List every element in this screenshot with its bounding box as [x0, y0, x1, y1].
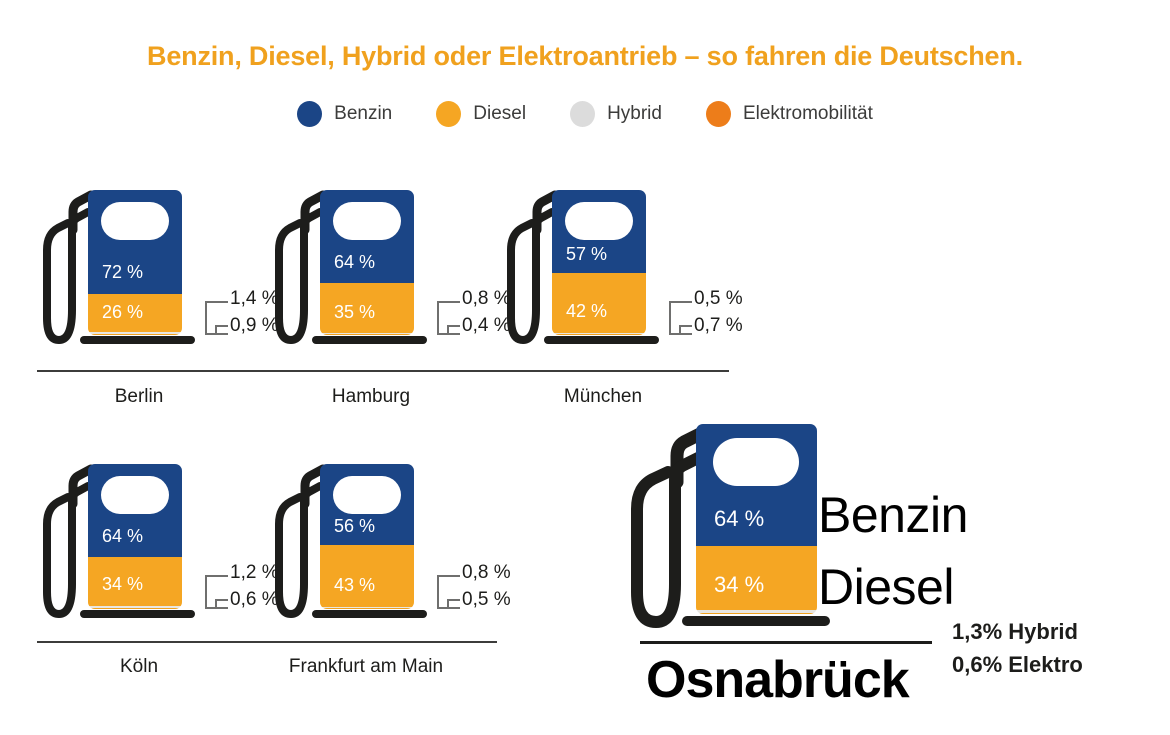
segment-benzin: 64 %	[88, 464, 182, 557]
segment-elektro	[88, 334, 182, 335]
segment-diesel: 43 %	[320, 545, 414, 607]
segment-benzin: 64 %	[320, 190, 414, 283]
pump-base	[312, 336, 427, 344]
pump-display-window	[565, 202, 633, 240]
hero-note-hybrid: 1,3% Hybrid	[952, 619, 1078, 645]
city-label-berlin: Berlin	[44, 386, 234, 408]
legend: Benzin Diesel Hybrid Elektromobilität	[0, 101, 1170, 127]
segment-elektro	[552, 334, 646, 335]
pump-display-window	[333, 202, 401, 240]
value-benzin: 57 %	[566, 244, 607, 265]
segment-elektro	[88, 608, 182, 609]
pump-group-frankfurt-am-main: 56 % 43 % 0,8 % 0,5 %	[276, 464, 496, 629]
pump-body-frankfurt-am-main: 56 % 43 %	[320, 464, 414, 609]
pump-display-window	[101, 476, 169, 514]
value-diesel: 26 %	[102, 302, 143, 323]
circle-icon	[706, 101, 731, 127]
pump-group-hamburg: 64 % 35 % 0,8 % 0,4 %	[276, 190, 496, 355]
callout-elektro: 0,6 %	[230, 589, 279, 611]
pump-base	[80, 336, 195, 344]
segment-elektro	[320, 608, 414, 609]
pump-body-koeln: 64 % 34 %	[88, 464, 182, 609]
pump-group-muenchen: 57 % 42 % 0,5 % 0,7 %	[508, 190, 728, 355]
hero-note-elektro: 0,6% Elektro	[952, 652, 1083, 678]
segment-diesel: 35 %	[320, 283, 414, 334]
infographic-canvas: Benzin, Diesel, Hybrid oder Elektroantri…	[0, 0, 1170, 735]
pump-group-osnabrueck: 64 % 34 % Benzin Diesel 1,3% Hybrid 0,6%…	[632, 424, 1152, 724]
segment-benzin: 57 %	[552, 190, 646, 273]
segment-elektro	[696, 613, 817, 614]
value-diesel: 43 %	[334, 575, 375, 596]
callout-hybrid: 0,8 %	[462, 288, 511, 310]
callout-hybrid: 0,8 %	[462, 562, 511, 584]
callout-hybrid: 1,2 %	[230, 562, 279, 584]
pump-base	[312, 610, 427, 618]
value-benzin: 56 %	[334, 516, 375, 537]
pump-group-koeln: 64 % 34 % 1,2 % 0,6 %	[44, 464, 264, 629]
city-label-frankfurt-am-main: Frankfurt am Main	[271, 656, 461, 678]
legend-item-diesel: Diesel	[436, 101, 526, 127]
value-diesel: 42 %	[566, 301, 607, 322]
legend-label-hybrid: Hybrid	[607, 103, 662, 125]
hero-divider	[640, 641, 932, 644]
legend-item-hybrid: Hybrid	[570, 101, 662, 127]
circle-icon	[570, 101, 595, 127]
pump-base	[682, 616, 830, 626]
city-label-hamburg: Hamburg	[276, 386, 466, 408]
segment-diesel: 42 %	[552, 273, 646, 334]
hero-label-benzin: Benzin	[818, 486, 968, 544]
pump-display-window	[333, 476, 401, 514]
legend-item-benzin: Benzin	[297, 101, 392, 127]
legend-item-elektromobilitaet: Elektromobilität	[706, 101, 873, 127]
legend-label-diesel: Diesel	[473, 103, 526, 125]
pump-body-muenchen: 57 % 42 %	[552, 190, 646, 335]
page-title: Benzin, Diesel, Hybrid oder Elektroantri…	[0, 41, 1170, 72]
pump-body-osnabrueck: 64 % 34 %	[696, 424, 817, 614]
value-benzin: 72 %	[102, 262, 143, 283]
city-label-muenchen: München	[508, 386, 698, 408]
city-label-koeln: Köln	[44, 656, 234, 678]
callout-elektro: 0,4 %	[462, 315, 511, 337]
row-divider-bottom	[37, 641, 497, 643]
segment-benzin: 56 %	[320, 464, 414, 545]
pump-body-berlin: 72 % 26 %	[88, 190, 182, 335]
segment-diesel: 34 %	[696, 546, 817, 611]
value-benzin: 64 %	[714, 506, 764, 532]
hero-label-diesel: Diesel	[818, 558, 954, 616]
value-diesel: 34 %	[102, 574, 143, 595]
value-diesel: 35 %	[334, 302, 375, 323]
callout-elektro: 0,7 %	[694, 315, 743, 337]
pump-base	[544, 336, 659, 344]
pump-group-berlin: 72 % 26 % 1,4 % 0,9 %	[44, 190, 264, 355]
value-diesel: 34 %	[714, 572, 764, 598]
pump-body-hamburg: 64 % 35 %	[320, 190, 414, 335]
callout-elektro: 0,9 %	[230, 315, 279, 337]
callout-elektro: 0,5 %	[462, 589, 511, 611]
segment-elektro	[320, 334, 414, 335]
row-divider-top	[37, 370, 729, 372]
circle-icon	[436, 101, 461, 127]
pump-display-window	[101, 202, 169, 240]
callout-hybrid: 1,4 %	[230, 288, 279, 310]
legend-label-elektromobilitaet: Elektromobilität	[743, 103, 873, 125]
callout-hybrid: 0,5 %	[694, 288, 743, 310]
segment-benzin: 72 %	[88, 190, 182, 294]
value-benzin: 64 %	[334, 252, 375, 273]
pump-display-window	[713, 438, 799, 486]
circle-icon	[297, 101, 322, 127]
segment-diesel: 26 %	[88, 294, 182, 332]
value-benzin: 64 %	[102, 526, 143, 547]
hero-city-label: Osnabrück	[646, 650, 909, 710]
segment-diesel: 34 %	[88, 557, 182, 606]
segment-benzin: 64 %	[696, 424, 817, 546]
legend-label-benzin: Benzin	[334, 103, 392, 125]
pump-base	[80, 610, 195, 618]
